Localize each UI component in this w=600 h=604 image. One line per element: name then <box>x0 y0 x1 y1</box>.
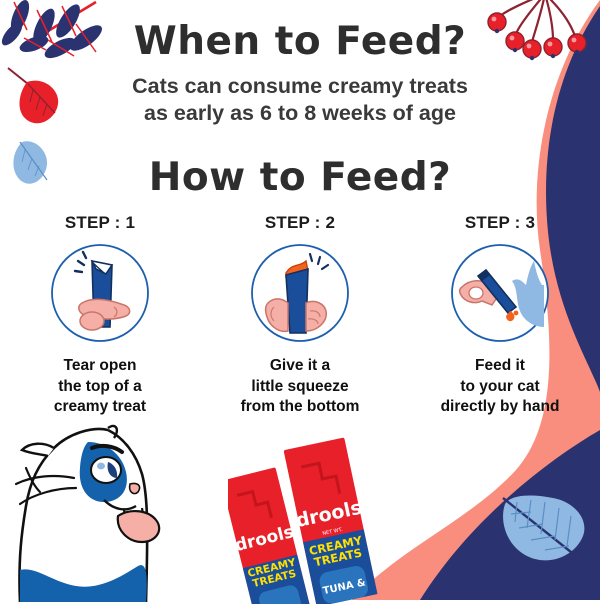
step-2: STEP : 2 G <box>200 213 400 418</box>
subtitle-line-2: as early as 6 to 8 weeks of age <box>0 100 600 128</box>
page-title-when: When to Feed? <box>0 22 600 63</box>
step-2-caption-line-1: Give it a <box>200 356 400 377</box>
step-3-caption-line-3: directly by hand <box>400 397 600 418</box>
subtitle-block: Cats can consume creamy treats as early … <box>0 73 600 128</box>
squeeze-tube-icon <box>248 241 352 345</box>
infographic-canvas: When to Feed? Cats can consume creamy tr… <box>0 0 600 600</box>
step-3-caption-line-1: Feed it <box>400 356 600 377</box>
how-to-feed-block: How to Feed? <box>0 158 600 199</box>
step-3-label: STEP : 3 <box>400 213 600 233</box>
step-2-caption-line-3: from the bottom <box>200 397 400 418</box>
steps-row: STEP : 1 Tear open the top of a <box>0 213 600 418</box>
subtitle-line-1: Cats can consume creamy treats <box>0 73 600 101</box>
step-1: STEP : 1 Tear open the top of a <box>0 213 200 418</box>
page-title-how: How to Feed? <box>0 158 600 199</box>
step-3-caption-line-2: to your cat <box>400 377 600 398</box>
step-1-caption-line-1: Tear open <box>0 356 200 377</box>
step-3-caption: Feed it to your cat directly by hand <box>400 356 600 418</box>
cat-line-art-icon <box>0 420 196 602</box>
large-blue-leaf-icon <box>497 488 589 566</box>
step-2-label: STEP : 2 <box>200 213 400 233</box>
product-packs: drools CREAMY TREATS drools NET WT. CREA… <box>228 436 388 604</box>
step-1-caption-line-2: the top of a <box>0 377 200 398</box>
feed-cat-icon <box>448 241 552 345</box>
step-2-caption-line-2: little squeeze <box>200 377 400 398</box>
when-to-feed-block: When to Feed? Cats can consume creamy tr… <box>0 22 600 128</box>
step-1-label: STEP : 1 <box>0 213 200 233</box>
step-3: STEP : 3 Feed it to your cat directly by… <box>400 213 600 418</box>
step-1-caption: Tear open the top of a creamy treat <box>0 356 200 418</box>
step-1-caption-line-3: creamy treat <box>0 397 200 418</box>
step-2-caption: Give it a little squeeze from the bottom <box>200 356 400 418</box>
tear-tube-icon <box>48 241 152 345</box>
